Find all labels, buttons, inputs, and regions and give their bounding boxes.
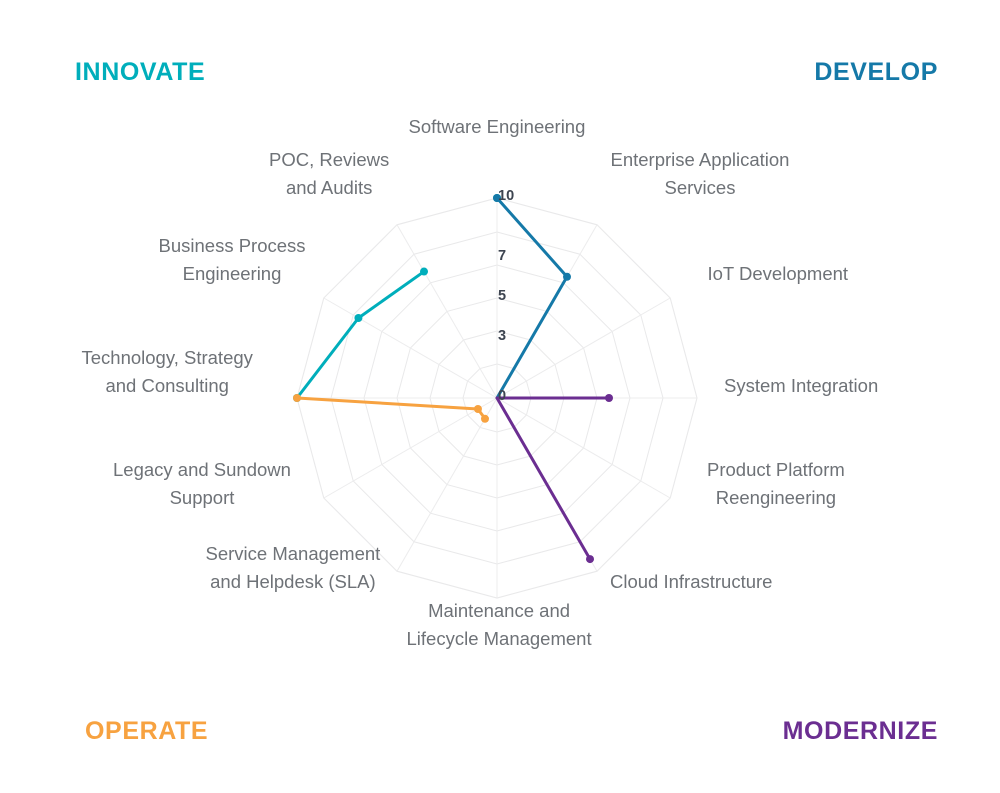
radar-category-label: Software Engineering — [409, 113, 586, 141]
radial-tick-label: 7 — [498, 248, 506, 264]
radar-axis-spoke — [397, 225, 497, 398]
radar-data-point — [563, 273, 571, 281]
radar-category-label-line: Engineering — [159, 260, 306, 288]
radar-category-label-line: Product Platform — [707, 456, 845, 484]
radar-data-point — [605, 394, 613, 402]
radar-category-label: IoT Development — [708, 260, 849, 288]
radar-category-label-line: IoT Development — [708, 260, 849, 288]
radar-series-layer — [293, 194, 613, 563]
radar-category-label-line: and Consulting — [82, 372, 253, 400]
radar-data-point — [420, 268, 428, 276]
radar-category-label-line: Cloud Infrastructure — [610, 568, 772, 596]
radar-series-line — [297, 272, 424, 398]
radar-data-point — [293, 394, 301, 402]
radar-category-label-line: Reengineering — [707, 484, 845, 512]
radar-category-label-line: POC, Reviews — [269, 146, 389, 174]
radar-series-line — [497, 198, 567, 398]
radar-axis-spoke — [497, 298, 670, 398]
radar-axis-spoke — [397, 398, 497, 571]
radar-category-label: Service Managementand Helpdesk (SLA) — [206, 540, 381, 596]
radar-category-label: Maintenance andLifecycle Management — [407, 597, 592, 653]
radar-category-label-line: Support — [113, 484, 291, 512]
radar-category-label-line: Legacy and Sundown — [113, 456, 291, 484]
radar-chart-page: INNOVATE DEVELOP OPERATE MODERNIZE 03571… — [0, 0, 1000, 793]
radar-category-label-line: Services — [611, 174, 790, 202]
radar-category-label-line: Service Management — [206, 540, 381, 568]
radar-category-label-line: Business Process — [159, 232, 306, 260]
radial-tick-label: 3 — [498, 328, 506, 344]
radar-category-label-line: and Audits — [269, 174, 389, 202]
radar-category-label-line: Maintenance and — [407, 597, 592, 625]
radial-tick-label: 0 — [498, 388, 506, 404]
radar-category-label: Enterprise ApplicationServices — [611, 146, 790, 202]
radar-data-point — [354, 314, 362, 322]
radar-series-line — [297, 398, 485, 419]
radar-category-label: Business ProcessEngineering — [159, 232, 306, 288]
radar-category-label-line: Software Engineering — [409, 113, 586, 141]
radar-category-label: Legacy and SundownSupport — [113, 456, 291, 512]
radar-data-point — [474, 405, 482, 413]
radar-category-label-line: Lifecycle Management — [407, 625, 592, 653]
radar-category-label: Technology, Strategyand Consulting — [82, 344, 253, 400]
radar-category-label-line: Enterprise Application — [611, 146, 790, 174]
radial-tick-label: 5 — [498, 288, 506, 304]
radar-axis-spoke — [324, 298, 497, 398]
radar-category-label-line: System Integration — [724, 372, 878, 400]
radar-category-label: Product PlatformReengineering — [707, 456, 845, 512]
radar-data-point — [586, 555, 594, 563]
radial-tick-label: 10 — [498, 188, 514, 204]
radar-category-label: POC, Reviewsand Audits — [269, 146, 389, 202]
radar-category-label-line: Technology, Strategy — [82, 344, 253, 372]
radar-category-label-line: and Helpdesk (SLA) — [206, 568, 381, 596]
radar-axis-spoke — [324, 398, 497, 498]
radar-category-label: System Integration — [724, 372, 878, 400]
radar-axis-spoke — [497, 398, 670, 498]
radar-category-label: Cloud Infrastructure — [610, 568, 772, 596]
radar-data-point — [481, 415, 489, 423]
